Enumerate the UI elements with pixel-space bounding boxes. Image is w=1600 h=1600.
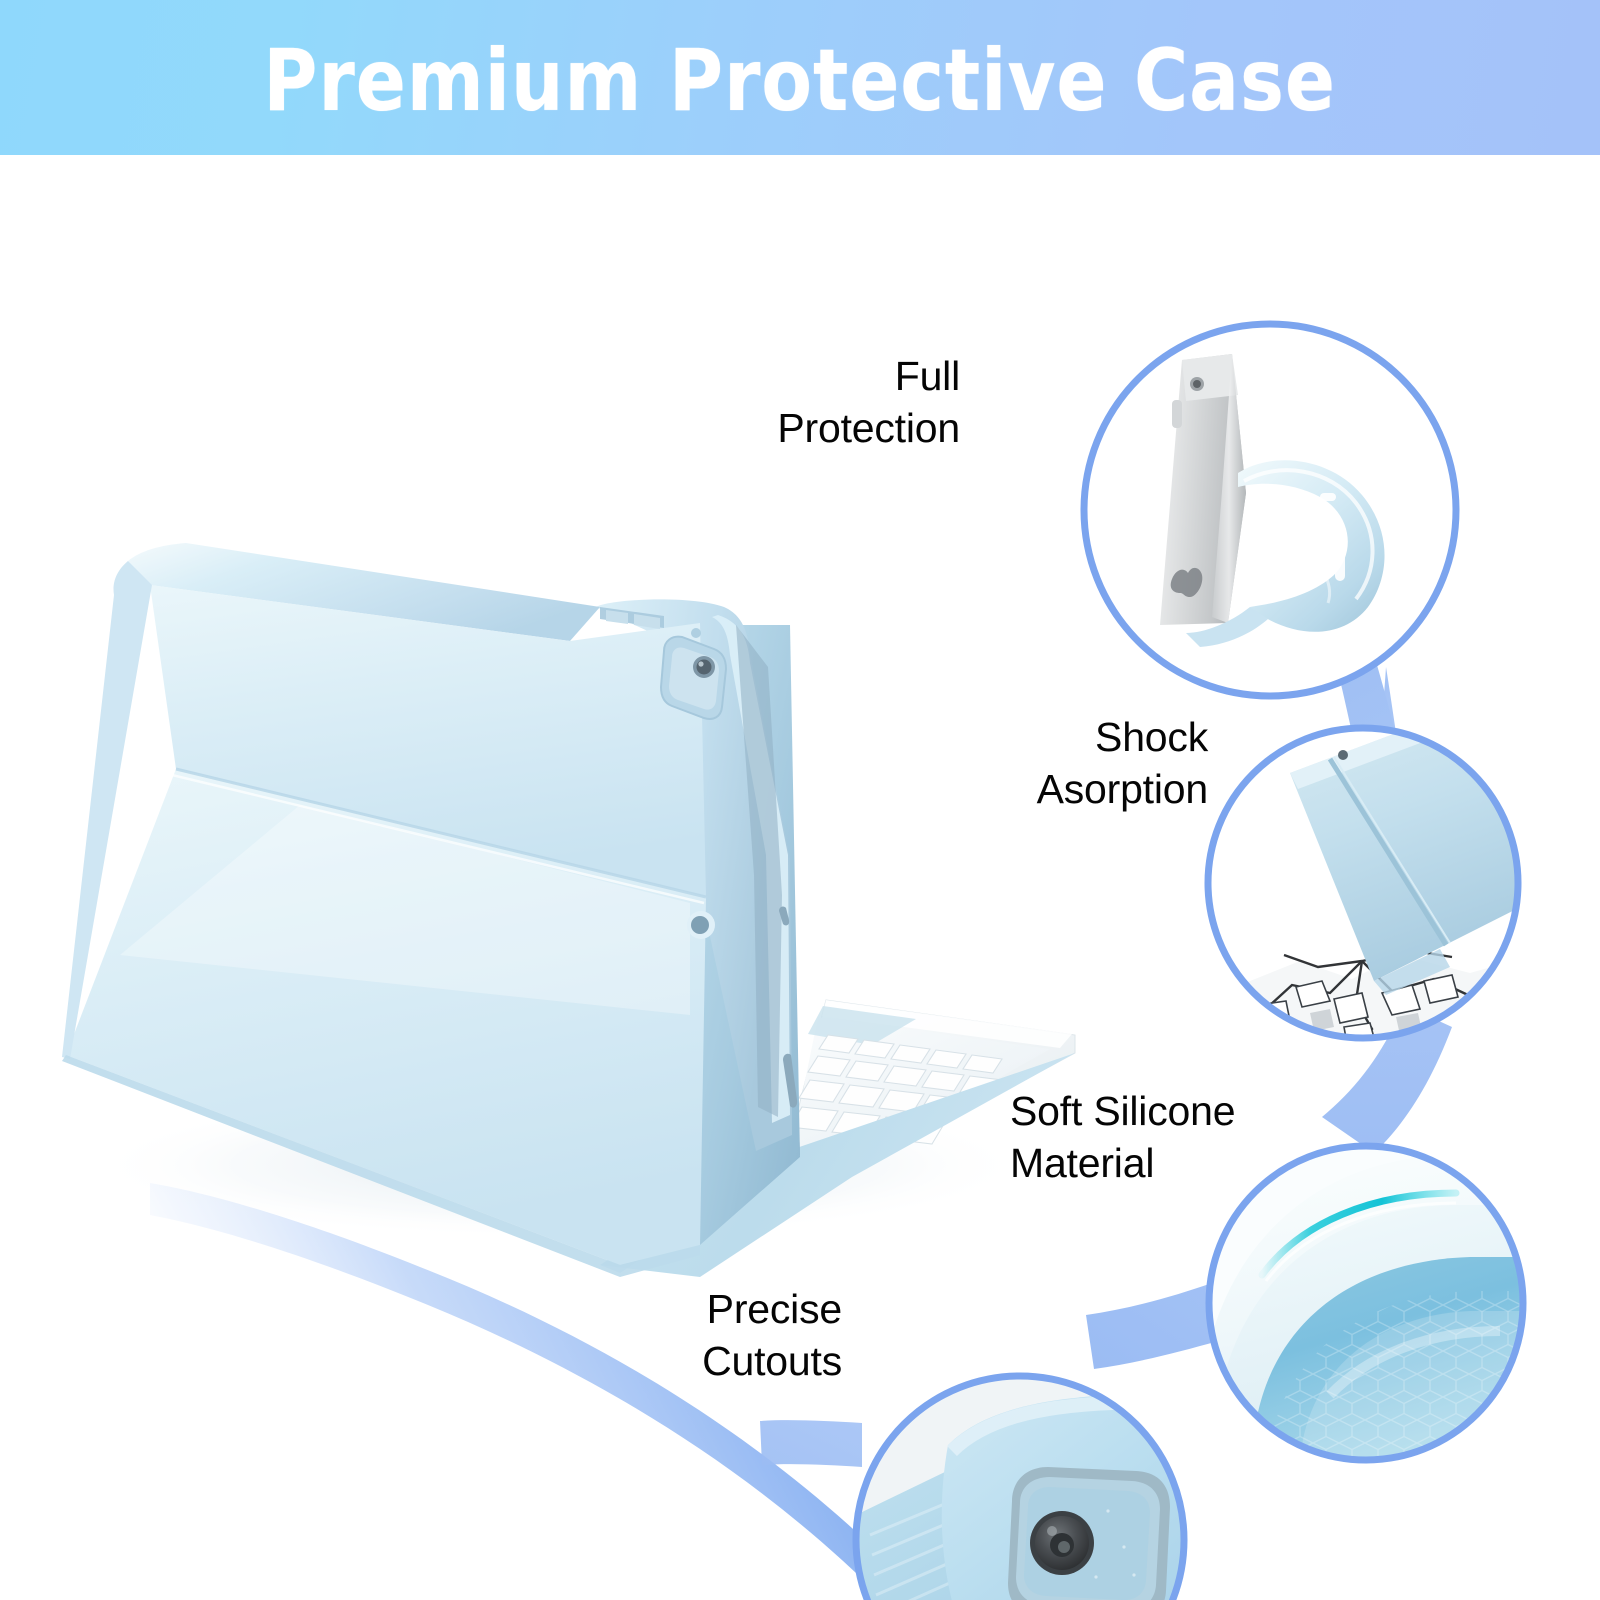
header-banner: Premium Protective Case bbox=[0, 0, 1600, 155]
callout-soft-silicone-material[interactable] bbox=[1209, 1146, 1523, 1460]
feature-label-precise-cutouts: Precise Cutouts bbox=[702, 1283, 842, 1388]
callout-shock-asorption[interactable] bbox=[1208, 715, 1552, 1053]
infographic-stage: Full Protection Shock Asorption Soft Sil… bbox=[0, 155, 1600, 1600]
speaker-hole bbox=[687, 911, 715, 939]
ipad-folio-case-with-keyboard bbox=[62, 543, 1075, 1277]
feature-label-full-protection: Full Protection bbox=[777, 350, 960, 455]
callout-precise-cutouts[interactable] bbox=[856, 1376, 1184, 1600]
feature-label-soft-silicone-material: Soft Silicone Material bbox=[1010, 1085, 1235, 1190]
callout-full-protection[interactable] bbox=[1084, 324, 1456, 696]
page-title: Premium Protective Case bbox=[264, 31, 1337, 131]
camera-lens bbox=[1030, 1511, 1094, 1575]
feature-label-shock-asorption: Shock Asorption bbox=[1037, 711, 1208, 816]
